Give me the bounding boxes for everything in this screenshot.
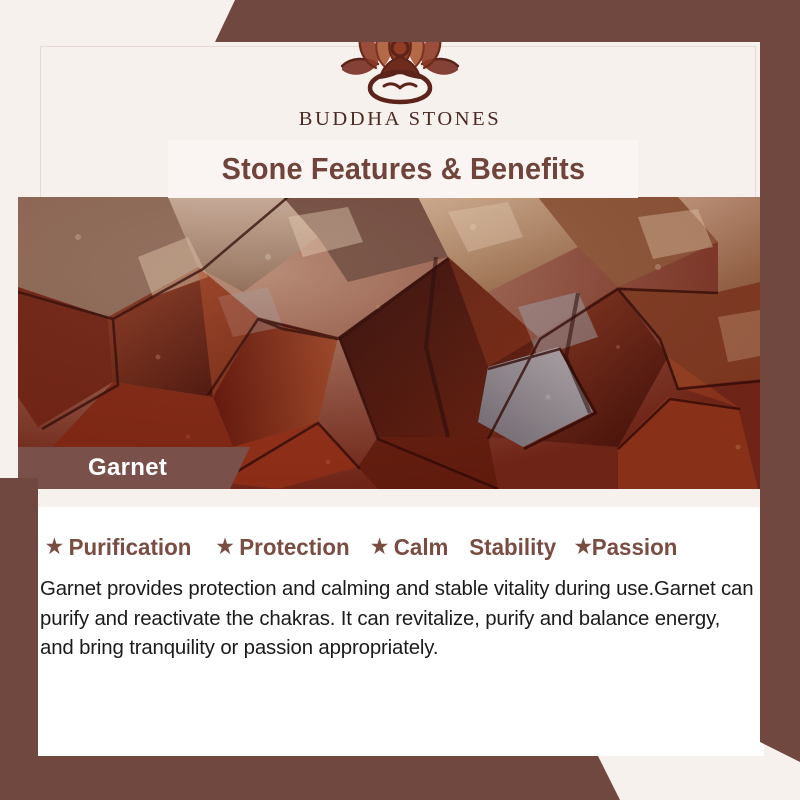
- feature-item: ★ Purification: [46, 534, 192, 561]
- description-text: Garnet provides protection and calming a…: [40, 575, 754, 664]
- card-top-strip: [38, 489, 764, 507]
- feature-item: Stability: [469, 534, 556, 561]
- garnet-mineral-cluster-photo: [18, 197, 782, 489]
- feature-item: ★ Calm: [371, 534, 448, 561]
- feature-item: ★ Passion: [575, 534, 678, 561]
- frame-bottom-bar: [0, 756, 620, 800]
- features-row: ★ Purification ★ Protection ★ Calm Stabi…: [42, 530, 758, 564]
- frame-left-bar: [0, 478, 38, 800]
- page-title: Stone Features & Benefits: [221, 151, 585, 187]
- feature-label: Calm: [394, 534, 449, 561]
- brand-name: BUDDHA STONES: [299, 108, 502, 131]
- feature-label: Protection: [239, 534, 349, 561]
- star-icon: ★: [217, 537, 234, 557]
- frame-right-bar: [760, 0, 800, 762]
- star-icon: ★: [46, 537, 63, 557]
- feature-label: Purification: [69, 534, 192, 561]
- star-icon: ★: [575, 537, 592, 557]
- star-icon: ★: [371, 537, 388, 557]
- stone-photo: [18, 197, 782, 489]
- infographic-page: BUDDHA STONES Stone Features & Benefits: [0, 0, 800, 800]
- title-banner: Stone Features & Benefits: [168, 140, 638, 198]
- stone-name: Garnet: [88, 454, 167, 482]
- stone-name-tag: Garnet: [18, 447, 250, 489]
- feature-label: Passion: [592, 534, 678, 561]
- feature-item: ★ Protection: [217, 534, 350, 561]
- frame-top-bar: [215, 0, 800, 42]
- feature-label: Stability: [469, 534, 556, 561]
